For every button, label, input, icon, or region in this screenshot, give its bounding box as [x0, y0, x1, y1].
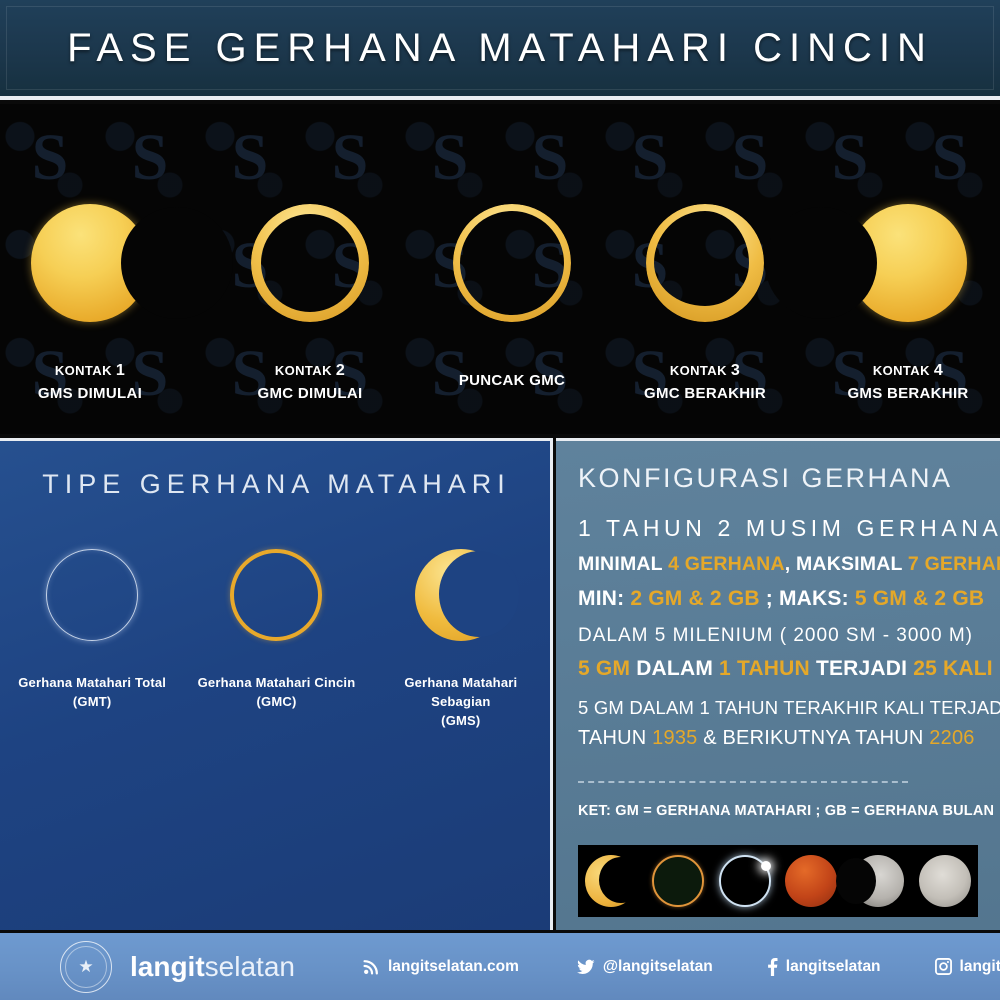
phase-contact-label-4: KONTAK 4 — [808, 361, 1000, 380]
cfg4-d: TERJADI — [810, 657, 913, 680]
config-panel-title: KONFIGURASI GERHANA — [578, 463, 953, 494]
type-col-gms — [369, 549, 553, 669]
eclipse-types-panel: TIPE GERHANA MATAHARI Gerhan — [0, 438, 553, 930]
phase-contact-label-1: KONTAK 1 — [0, 361, 190, 380]
types-panel-title: TIPE GERHANA MATAHARI — [0, 469, 553, 500]
contact-number: 3 — [731, 362, 740, 379]
instagram-icon — [935, 958, 952, 975]
cfg4-b: DALAM — [630, 657, 719, 680]
photo-partial-lunar — [845, 845, 912, 917]
phase-contact-label-2: KONTAK 2 — [210, 361, 410, 380]
corona-ring-icon — [46, 549, 138, 641]
brand-light: selatan — [205, 951, 295, 982]
phase-name-2: GMC DIMULAI — [210, 385, 410, 402]
type-abbr-gmc: (GMC) — [256, 694, 296, 709]
cfg1-c: , MAKSIMAL — [785, 553, 908, 575]
twitter-label: @langitselatan — [603, 958, 713, 976]
photo-annular-solar-ring — [645, 845, 712, 917]
types-art-row — [0, 549, 553, 669]
cfg6-c: & BERIKUTNYA TAHUN — [697, 727, 929, 749]
contact-number: 2 — [336, 362, 345, 379]
annular-ring-even-icon — [453, 204, 571, 322]
annular-ring-offset-icon — [646, 204, 764, 322]
contact-word: KONTAK — [275, 363, 332, 378]
cfg6-a: TAHUN — [578, 727, 652, 749]
page-title: FASE GERHANA MATAHARI CINCIN — [67, 26, 933, 71]
website-label: langitselatan.com — [388, 958, 519, 976]
phase-name-3: PUNCAK GMC — [412, 372, 612, 389]
phase-item-1: KONTAK 1 GMS DIMULAI — [0, 104, 190, 434]
eclipse-phase-band: S S S S S S S S S S S S S S S S S S S S … — [0, 104, 1000, 434]
config-line-years: TAHUN 1935 & BERIKUTNYA TAHUN 2206 — [578, 727, 975, 750]
phase-item-3: PUNCAK GMC — [412, 104, 612, 434]
instagram-label: langitselatanmedia — [960, 958, 1000, 976]
annular-ring-thick-icon — [251, 204, 369, 322]
photo-total-solar-diamond-ring — [711, 845, 778, 917]
infographic-page: FASE GERHANA MATAHARI CINCIN S S S S S S… — [0, 0, 1000, 1000]
cfg1-b: 4 GERHANA — [668, 553, 785, 575]
cfg1-a: MINIMAL — [578, 553, 668, 575]
twitter-icon — [577, 959, 595, 975]
cfg2-c: ; MAKS: — [760, 587, 855, 610]
page-footer: ★ langitselatan langitselatan.com @langi… — [0, 933, 1000, 1000]
config-divider — [578, 781, 908, 783]
types-label-row: Gerhana Matahari Total (GMT) Gerhana Mat… — [0, 673, 553, 730]
type-name-gmc: Gerhana Matahari Cincin — [198, 675, 356, 690]
cfg4-e: 25 KALI — [913, 657, 993, 680]
brand-wordmark: langitselatan — [130, 951, 295, 983]
type-abbr-gmt: (GMT) — [73, 694, 112, 709]
contact-word: KONTAK — [873, 363, 930, 378]
phase-contact-label-3: KONTAK 3 — [605, 361, 805, 380]
type-col-gmc — [184, 549, 368, 669]
cfg4-c: 1 TAHUN — [719, 657, 810, 680]
contact-number: 1 — [116, 362, 125, 379]
langitselatan-logo-icon: ★ — [60, 941, 112, 993]
contact-number: 4 — [934, 362, 943, 379]
config-line-milenium: DALAM 5 MILENIUM ( 2000 SM - 3000 M) — [578, 625, 973, 647]
config-hero-line: 1 TAHUN 2 MUSIM GERHANA — [578, 515, 1000, 542]
type-name-gmt: Gerhana Matahari Total — [18, 675, 166, 690]
type-label-gmc: Gerhana Matahari Cincin (GMC) — [184, 673, 368, 730]
cfg1-d: 7 GERHANA — [908, 553, 1000, 575]
contact-word: KONTAK — [55, 363, 112, 378]
phase-name-4: GMC BERAKHIR — [605, 385, 805, 402]
brand-bold: langit — [130, 951, 205, 982]
facebook-icon — [767, 958, 778, 976]
config-line-minmax-gmgb: MIN: 2 GM & 2 GB ; MAKS: 5 GM & 2 GB — [578, 587, 984, 611]
footer-link-twitter[interactable]: @langitselatan — [577, 958, 713, 976]
cfg6-d: 2206 — [929, 727, 974, 749]
cfg6-b: 1935 — [652, 727, 697, 749]
phase-item-5: KONTAK 4 GMS BERAKHIR — [808, 104, 1000, 434]
type-label-gms: Gerhana Matahari Sebagian (GMS) — [369, 673, 553, 730]
facebook-label: langitselatan — [786, 958, 881, 976]
cfg4-a: 5 GM — [578, 657, 630, 680]
gold-crescent-icon — [415, 549, 507, 641]
cfg2-d: 5 GM & 2 GB — [855, 587, 984, 610]
gold-ring-icon — [230, 549, 322, 641]
footer-link-facebook[interactable]: langitselatan — [767, 958, 881, 976]
logo-rider-glyph: ★ — [75, 956, 97, 978]
type-name-gms: Gerhana Matahari Sebagian — [404, 675, 517, 709]
config-key-note: KET: GM = GERHANA MATAHARI ; GB = GERHAN… — [578, 803, 994, 819]
type-label-gmt: Gerhana Matahari Total (GMT) — [0, 673, 184, 730]
config-line-minmax-gerhana: MINIMAL 4 GERHANA, MAKSIMAL 7 GERHANA — [578, 553, 1000, 576]
cfg2-a: MIN: — [578, 587, 630, 610]
phase-name-1: GMS DIMULAI — [0, 385, 190, 402]
config-line-terakhir: 5 GM DALAM 1 TAHUN TERAKHIR KALI TERJADI — [578, 697, 1000, 719]
eclipse-config-panel: KONFIGURASI GERHANA 1 TAHUN 2 MUSIM GERH… — [556, 438, 1000, 930]
type-col-gmt — [0, 549, 184, 669]
footer-link-website[interactable]: langitselatan.com — [363, 958, 519, 976]
cfg2-b: 2 GM & 2 GB — [630, 587, 759, 610]
sun-disc-bitten-right-icon — [31, 204, 149, 322]
config-line-5gm-25kali: 5 GM DALAM 1 TAHUN TERJADI 25 KALI — [578, 657, 993, 681]
eclipse-photo-strip — [578, 845, 978, 917]
phase-name-5: GMS BERAKHIR — [808, 385, 1000, 402]
contact-word: KONTAK — [670, 363, 727, 378]
phase-item-2: KONTAK 2 GMC DIMULAI — [210, 104, 410, 434]
sun-disc-bitten-left-icon — [849, 204, 967, 322]
rss-icon — [363, 958, 380, 975]
photo-partial-solar-crescent — [578, 845, 645, 917]
photo-full-moon — [911, 845, 978, 917]
type-abbr-gms: (GMS) — [441, 713, 480, 728]
photo-total-lunar-red — [778, 845, 845, 917]
footer-link-instagram[interactable]: langitselatanmedia — [935, 958, 1000, 976]
page-header: FASE GERHANA MATAHARI CINCIN — [0, 0, 1000, 100]
